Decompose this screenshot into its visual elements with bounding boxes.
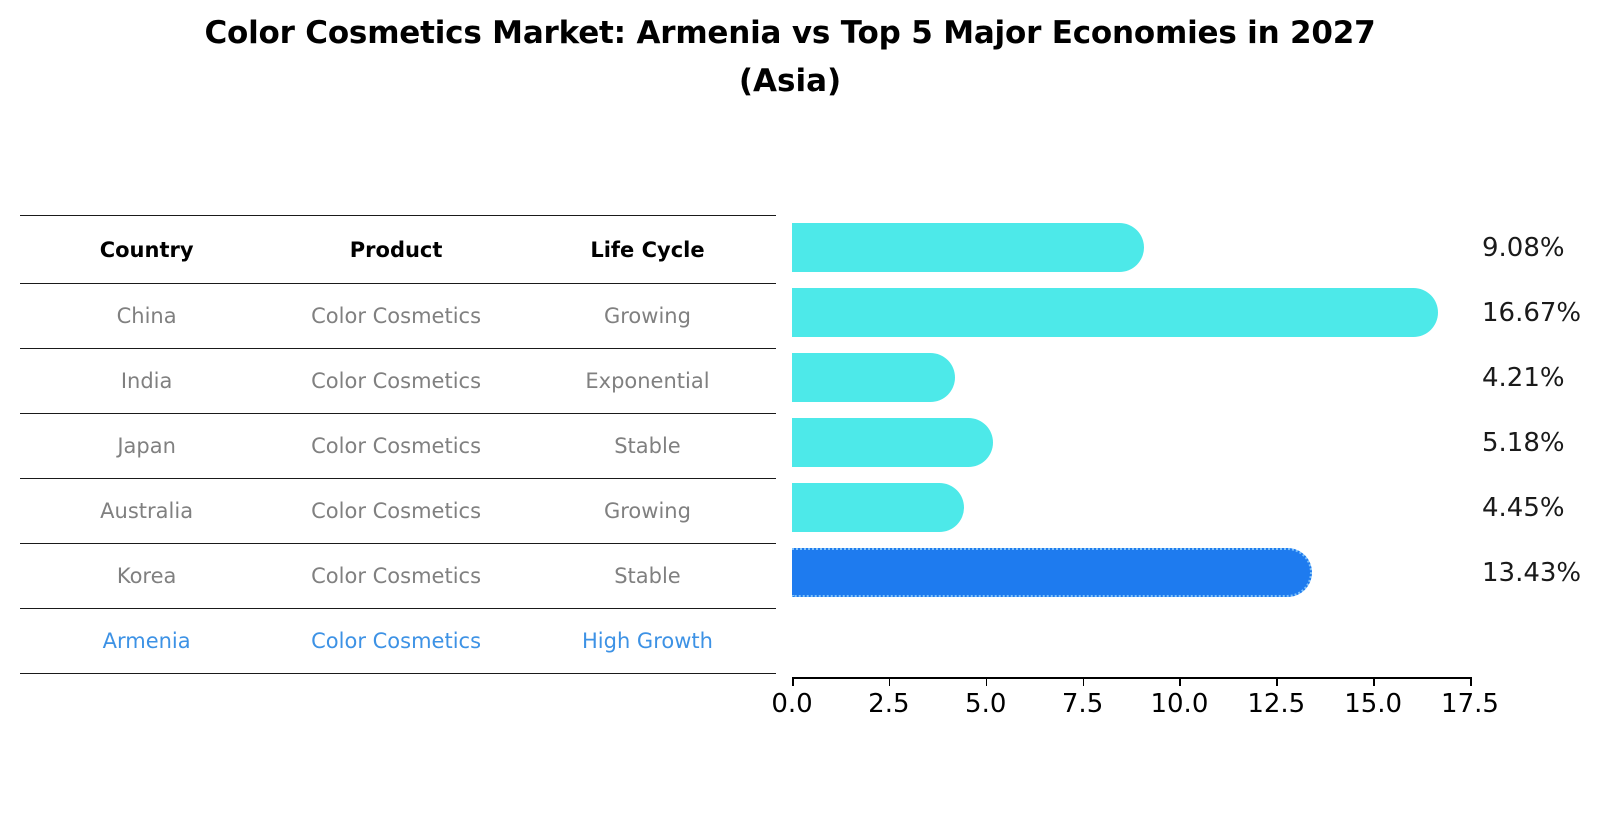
table-header-row: Country Product Life Cycle: [20, 216, 776, 284]
bar-armenia[interactable]: [792, 548, 1312, 597]
cell-country: Armenia: [20, 609, 273, 674]
x-axis-tick-label: 2.5: [868, 689, 909, 719]
x-axis-tick: [1276, 677, 1278, 686]
cell-life-cycle: Stable: [519, 544, 776, 609]
page-title: Color Cosmetics Market: Armenia vs Top 5…: [0, 14, 1580, 54]
x-axis: 0.02.55.07.510.012.515.017.5: [792, 677, 1470, 737]
cell-life-cycle: High Growth: [519, 609, 776, 674]
x-axis-tick: [1470, 677, 1472, 686]
bar-row: 5.18%: [792, 410, 1470, 475]
country-table: Country Product Life Cycle ChinaColor Co…: [20, 215, 776, 674]
table-row: ArmeniaColor CosmeticsHigh Growth: [20, 609, 776, 674]
plot-area: 9.08%16.67%4.21%5.18%4.45%13.43%: [792, 215, 1470, 670]
cell-product: Color Cosmetics: [273, 609, 519, 674]
bar-row: 16.67%: [792, 280, 1470, 345]
table-row: JapanColor CosmeticsStable: [20, 414, 776, 479]
x-axis-tick-label: 12.5: [1247, 689, 1305, 719]
cell-life-cycle: Growing: [519, 284, 776, 349]
x-axis-tick: [1179, 677, 1181, 686]
x-axis-tick: [1083, 677, 1085, 686]
x-axis-tick-label: 0.0: [771, 689, 812, 719]
x-axis-tick: [792, 677, 794, 686]
cell-country: India: [20, 349, 273, 414]
bar-chart: 9.08%16.67%4.21%5.18%4.45%13.43% 0.02.55…: [792, 215, 1584, 735]
bar-row: 9.08%: [792, 215, 1470, 280]
x-axis-tick-label: 7.5: [1062, 689, 1103, 719]
bar-value-label: 4.45%: [1482, 493, 1565, 523]
bar-value-label: 13.43%: [1482, 558, 1581, 588]
cell-product: Color Cosmetics: [273, 479, 519, 544]
cell-country: Japan: [20, 414, 273, 479]
bar-korea[interactable]: [792, 483, 964, 532]
bar-row: 4.45%: [792, 475, 1470, 540]
x-axis-line: [792, 677, 1470, 679]
bar-india[interactable]: [792, 288, 1438, 337]
title-block: Color Cosmetics Market: Armenia vs Top 5…: [0, 14, 1580, 101]
x-axis-tick: [1373, 677, 1375, 686]
bar-china[interactable]: [792, 223, 1144, 272]
bar-row: 13.43%: [792, 540, 1470, 605]
bar-value-label: 4.21%: [1482, 363, 1565, 393]
table: Country Product Life Cycle ChinaColor Co…: [20, 215, 776, 674]
bar-australia[interactable]: [792, 418, 993, 467]
table-header: Country Product Life Cycle: [20, 216, 776, 284]
cell-life-cycle: Exponential: [519, 349, 776, 414]
cell-country: Korea: [20, 544, 273, 609]
cell-life-cycle: Stable: [519, 414, 776, 479]
column-header-product: Product: [273, 216, 519, 284]
cell-country: China: [20, 284, 273, 349]
cell-product: Color Cosmetics: [273, 544, 519, 609]
x-axis-tick-label: 5.0: [965, 689, 1006, 719]
bar-japan[interactable]: [792, 353, 955, 402]
table-row: IndiaColor CosmeticsExponential: [20, 349, 776, 414]
x-axis-tick-label: 10.0: [1150, 689, 1208, 719]
cell-product: Color Cosmetics: [273, 414, 519, 479]
x-axis-tick-label: 17.5: [1441, 689, 1499, 719]
table-row: KoreaColor CosmeticsStable: [20, 544, 776, 609]
bar-row: 4.21%: [792, 345, 1470, 410]
column-header-life-cycle: Life Cycle: [519, 216, 776, 284]
bar-value-label: 16.67%: [1482, 298, 1581, 328]
x-axis-tick: [986, 677, 988, 686]
x-axis-tick-label: 15.0: [1344, 689, 1402, 719]
table-row: ChinaColor CosmeticsGrowing: [20, 284, 776, 349]
cell-country: Australia: [20, 479, 273, 544]
column-header-country: Country: [20, 216, 273, 284]
cell-product: Color Cosmetics: [273, 349, 519, 414]
table-body: ChinaColor CosmeticsGrowingIndiaColor Co…: [20, 284, 776, 674]
cell-product: Color Cosmetics: [273, 284, 519, 349]
page-subtitle: (Asia): [0, 62, 1580, 102]
cell-life-cycle: Growing: [519, 479, 776, 544]
table-row: AustraliaColor CosmeticsGrowing: [20, 479, 776, 544]
bar-value-label: 9.08%: [1482, 233, 1565, 263]
bar-value-label: 5.18%: [1482, 428, 1565, 458]
x-axis-tick: [889, 677, 891, 686]
